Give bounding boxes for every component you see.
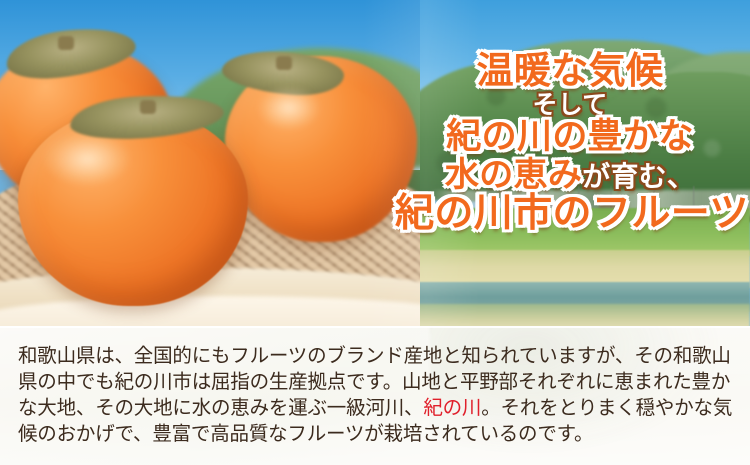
headline-line-2: そして [395, 92, 745, 117]
kinokawa-highlight: 紀の川 [423, 396, 481, 419]
description-panel: 和歌山県は、全国的にもフルーツのブランド産地と知られていますが、その和歌山県の中… [0, 326, 750, 465]
headline-line-3: 紀の川の豊かな [395, 120, 745, 155]
description-text: 和歌山県は、全国的にもフルーツのブランド産地と知られていますが、その和歌山県の中… [18, 343, 736, 447]
persimmon-stem [58, 36, 74, 50]
hero-image: 温暖な気候 そして 紀の川の豊かな 水の恵みが育む、 紀の川市のフルーツ！ [0, 0, 750, 326]
persimmon-highlight [258, 86, 320, 130]
panel-divider [0, 326, 750, 328]
headline-line-1: 温暖な気候 [395, 52, 745, 89]
headline-line-5: 紀の川市のフルーツ！ [395, 194, 745, 233]
persimmon-stem [140, 100, 156, 114]
headline-line-4: 水の恵みが育む、 [395, 158, 745, 192]
description-paragraph: 和歌山県は、全国的にもフルーツのブランド産地と知られていますが、その和歌山県の中… [18, 343, 736, 447]
persimmon-photo [0, 0, 420, 326]
headline-line-4-suffix: が育む、 [582, 160, 695, 193]
persimmon-stem [276, 56, 292, 70]
persimmon-highlight [44, 132, 130, 186]
fruit-promo-banner: 温暖な気候 そして 紀の川の豊かな 水の恵みが育む、 紀の川市のフルーツ！ 和歌… [0, 0, 750, 465]
headline-line-4-main: 水の恵み [445, 155, 582, 195]
headline-group: 温暖な気候 そして 紀の川の豊かな 水の恵みが育む、 紀の川市のフルーツ！ [395, 52, 745, 233]
